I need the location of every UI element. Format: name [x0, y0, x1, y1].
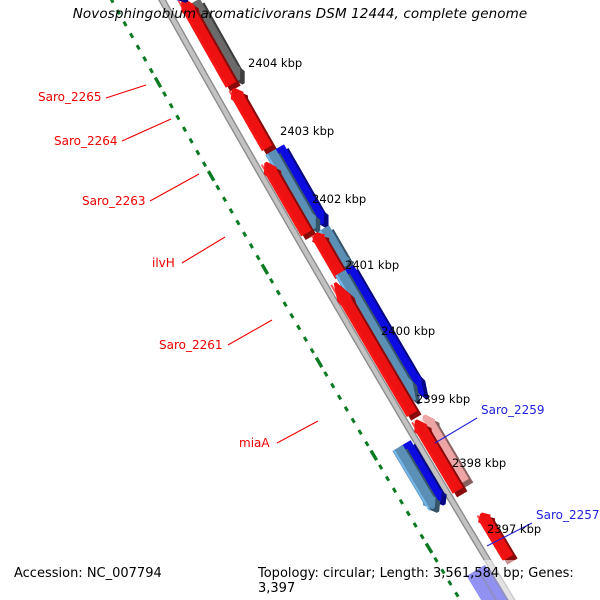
ruler-minor-tick — [144, 57, 146, 61]
ruler-tick-label: 2403 kbp — [280, 124, 334, 138]
ruler-minor-tick — [190, 139, 192, 143]
ruler-minor-tick — [150, 69, 152, 73]
ruler-major-tick — [316, 358, 322, 368]
gene-label-layer[interactable]: Saro_2265Saro_2264Saro_2263ilvHSaro_2261… — [38, 90, 600, 522]
ruler-tick-label: 2401 kbp — [345, 258, 399, 272]
ruler-minor-tick — [379, 465, 382, 469]
ruler-minor-tick — [352, 418, 355, 422]
ruler-minor-tick — [414, 523, 417, 527]
gene-label[interactable]: Saro_2264 — [54, 134, 118, 148]
ruler-tick-label: 2398 kbp — [452, 456, 506, 470]
ruler-tick-label: 2399 kbp — [416, 392, 470, 406]
ruler-minor-tick — [230, 209, 232, 213]
ruler-minor-tick — [297, 325, 300, 329]
gene-feature[interactable] — [229, 88, 276, 155]
ruler-minor-tick — [270, 279, 273, 283]
ruler-label-layer: 2404 kbp2403 kbp2402 kbp2401 kbp2400 kbp… — [248, 56, 541, 536]
ruler-minor-tick — [237, 220, 239, 224]
ruler-minor-tick — [345, 407, 348, 411]
ruler-tick-label: 2402 kbp — [312, 192, 366, 206]
ruler-minor-tick — [304, 337, 307, 341]
ruler-major-tick — [371, 451, 377, 460]
gene-label-leader — [228, 320, 272, 345]
genome-details-text: Topology: circular; Length: 3,561,584 bp… — [258, 566, 600, 596]
ruler-minor-tick — [407, 511, 410, 515]
gene-label[interactable]: ilvH — [152, 256, 175, 270]
gene-label[interactable]: Saro_2263 — [82, 194, 146, 208]
ruler-minor-tick — [359, 430, 362, 434]
gene-label-leader — [106, 85, 146, 98]
status-bar: Accession: NC_007794 Topology: circular;… — [0, 566, 600, 584]
ruler-minor-tick — [284, 302, 287, 306]
gene-label-leader — [122, 119, 171, 141]
ruler-minor-tick — [250, 244, 253, 248]
ruler-minor-tick — [124, 22, 126, 26]
ruler-minor-tick — [197, 150, 199, 154]
genome-map-canvas[interactable]: 2404 kbp2403 kbp2402 kbp2401 kbp2400 kbp… — [0, 0, 600, 600]
ruler-minor-tick — [257, 255, 260, 259]
ruler-minor-tick — [386, 476, 389, 480]
ruler-minor-tick — [421, 534, 424, 538]
ruler-minor-tick — [183, 127, 185, 131]
ruler-tick-label: 2404 kbp — [248, 56, 302, 70]
ruler-minor-tick — [111, 0, 113, 3]
ruler-minor-tick — [325, 372, 328, 376]
ruler-minor-tick — [203, 162, 205, 166]
gene-label[interactable]: miaA — [239, 436, 270, 450]
gene-label[interactable]: Saro_2259 — [481, 403, 545, 417]
ruler-minor-tick — [170, 104, 172, 108]
gene-label[interactable]: Saro_2257 — [536, 508, 600, 522]
ruler-minor-tick — [117, 10, 119, 14]
ruler-tick-layer — [91, 0, 514, 600]
ruler-major-tick — [426, 543, 432, 552]
ruler-minor-tick — [217, 185, 219, 189]
ruler-minor-tick — [277, 290, 280, 294]
gene-label-leader — [150, 174, 199, 201]
ruler-minor-tick — [311, 349, 314, 353]
ruler-minor-tick — [130, 33, 132, 37]
gene-label[interactable]: Saro_2261 — [159, 338, 223, 352]
ruler-minor-tick — [223, 197, 225, 201]
ruler-major-tick — [208, 171, 213, 181]
gene-feature-body[interactable] — [231, 88, 273, 151]
ruler-minor-tick — [291, 314, 294, 318]
ruler-tick-label: 2397 kbp — [487, 522, 541, 536]
ruler-minor-tick — [338, 395, 341, 399]
ruler-minor-tick — [366, 442, 369, 446]
genome-map-viewer: Novosphingobium aromaticivorans DSM 1244… — [0, 0, 600, 600]
ruler-major-tick — [155, 78, 160, 88]
ruler-tick-label: 2400 kbp — [381, 324, 435, 338]
ruler-minor-tick — [177, 115, 179, 119]
ruler-minor-tick — [331, 384, 334, 388]
ruler-minor-tick — [163, 92, 165, 96]
ruler-minor-tick — [137, 45, 139, 49]
gene-label-leader — [182, 237, 225, 263]
ruler-major-tick — [262, 264, 268, 274]
ruler-minor-tick — [393, 488, 396, 492]
ruler-minor-tick — [243, 232, 246, 236]
accession-text: Accession: NC_007794 — [14, 566, 162, 581]
gene-label-leader — [277, 421, 318, 443]
gene-label[interactable]: Saro_2265 — [38, 90, 102, 104]
ruler-minor-tick — [400, 500, 403, 504]
